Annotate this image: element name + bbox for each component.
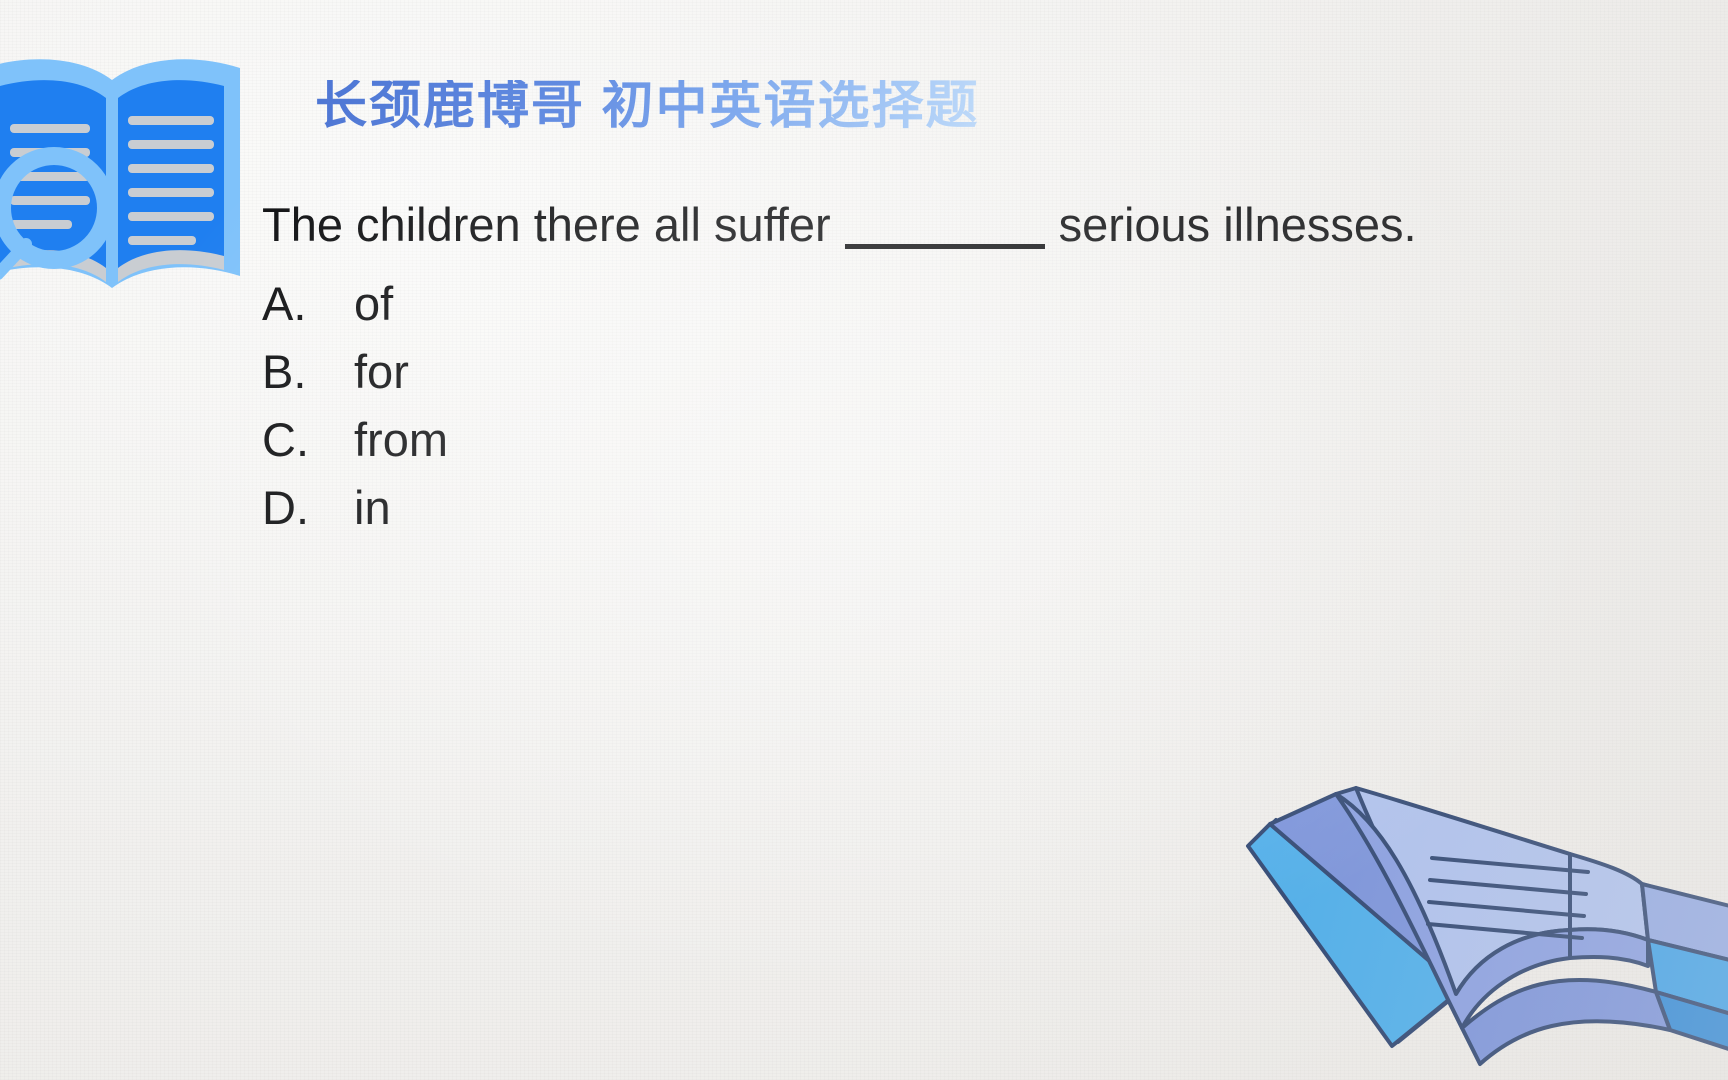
option-d-letter: D. xyxy=(262,474,354,542)
option-c-letter: C. xyxy=(262,406,354,474)
option-a[interactable]: A. of xyxy=(262,270,1417,338)
option-c[interactable]: C. from xyxy=(262,406,1417,474)
options-list: A. of B. for C. from D. in xyxy=(262,270,1417,543)
open-book-illustration xyxy=(1218,780,1728,1080)
option-b[interactable]: B. for xyxy=(262,338,1417,406)
question-suffix: serious illnesses. xyxy=(1059,200,1417,250)
option-a-letter: A. xyxy=(262,270,354,338)
option-c-text: from xyxy=(354,406,448,474)
page-title: 长颈鹿博哥 初中英语选择题 xyxy=(315,80,979,132)
question-sentence: The children there all suffer serious il… xyxy=(262,200,1417,250)
option-b-letter: B. xyxy=(262,338,354,406)
option-b-text: for xyxy=(354,338,409,406)
option-d-text: in xyxy=(354,474,391,542)
option-d[interactable]: D. in xyxy=(262,474,1417,542)
open-book-with-magnifier-icon xyxy=(0,50,248,302)
slide-canvas: 长颈鹿博哥 初中英语选择题 The children there all suf… xyxy=(0,0,1728,1080)
question-prefix: The children there all suffer xyxy=(262,200,831,250)
question-block: The children there all suffer serious il… xyxy=(262,200,1417,542)
answer-blank xyxy=(845,238,1045,239)
option-a-text: of xyxy=(354,270,393,338)
